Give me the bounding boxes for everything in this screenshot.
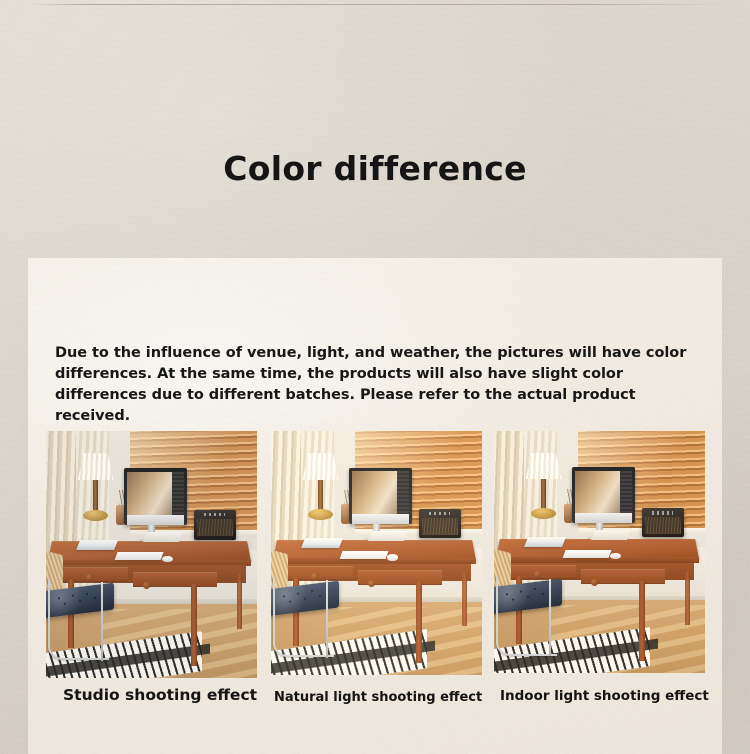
color-grade-overlay (46, 431, 257, 678)
caption-indoor-light: Indoor light shooting effect (500, 688, 709, 704)
color-grade-overlay (271, 431, 482, 675)
content-card: Due to the influence of venue, light, an… (28, 258, 722, 754)
color-grade-overlay (494, 431, 705, 673)
page-background: Color difference Due to the influence of… (0, 0, 750, 754)
caption-natural-light: Natural light shooting effect (274, 690, 482, 705)
disclaimer-text: Due to the influence of venue, light, an… (55, 343, 695, 427)
top-divider-line (30, 4, 730, 5)
page-title: Color difference (0, 149, 750, 188)
caption-studio: Studio shooting effect (63, 686, 257, 704)
product-image-studio[interactable] (46, 431, 257, 678)
product-image-indoor-light[interactable] (494, 431, 705, 673)
product-image-natural-light[interactable] (271, 431, 482, 675)
